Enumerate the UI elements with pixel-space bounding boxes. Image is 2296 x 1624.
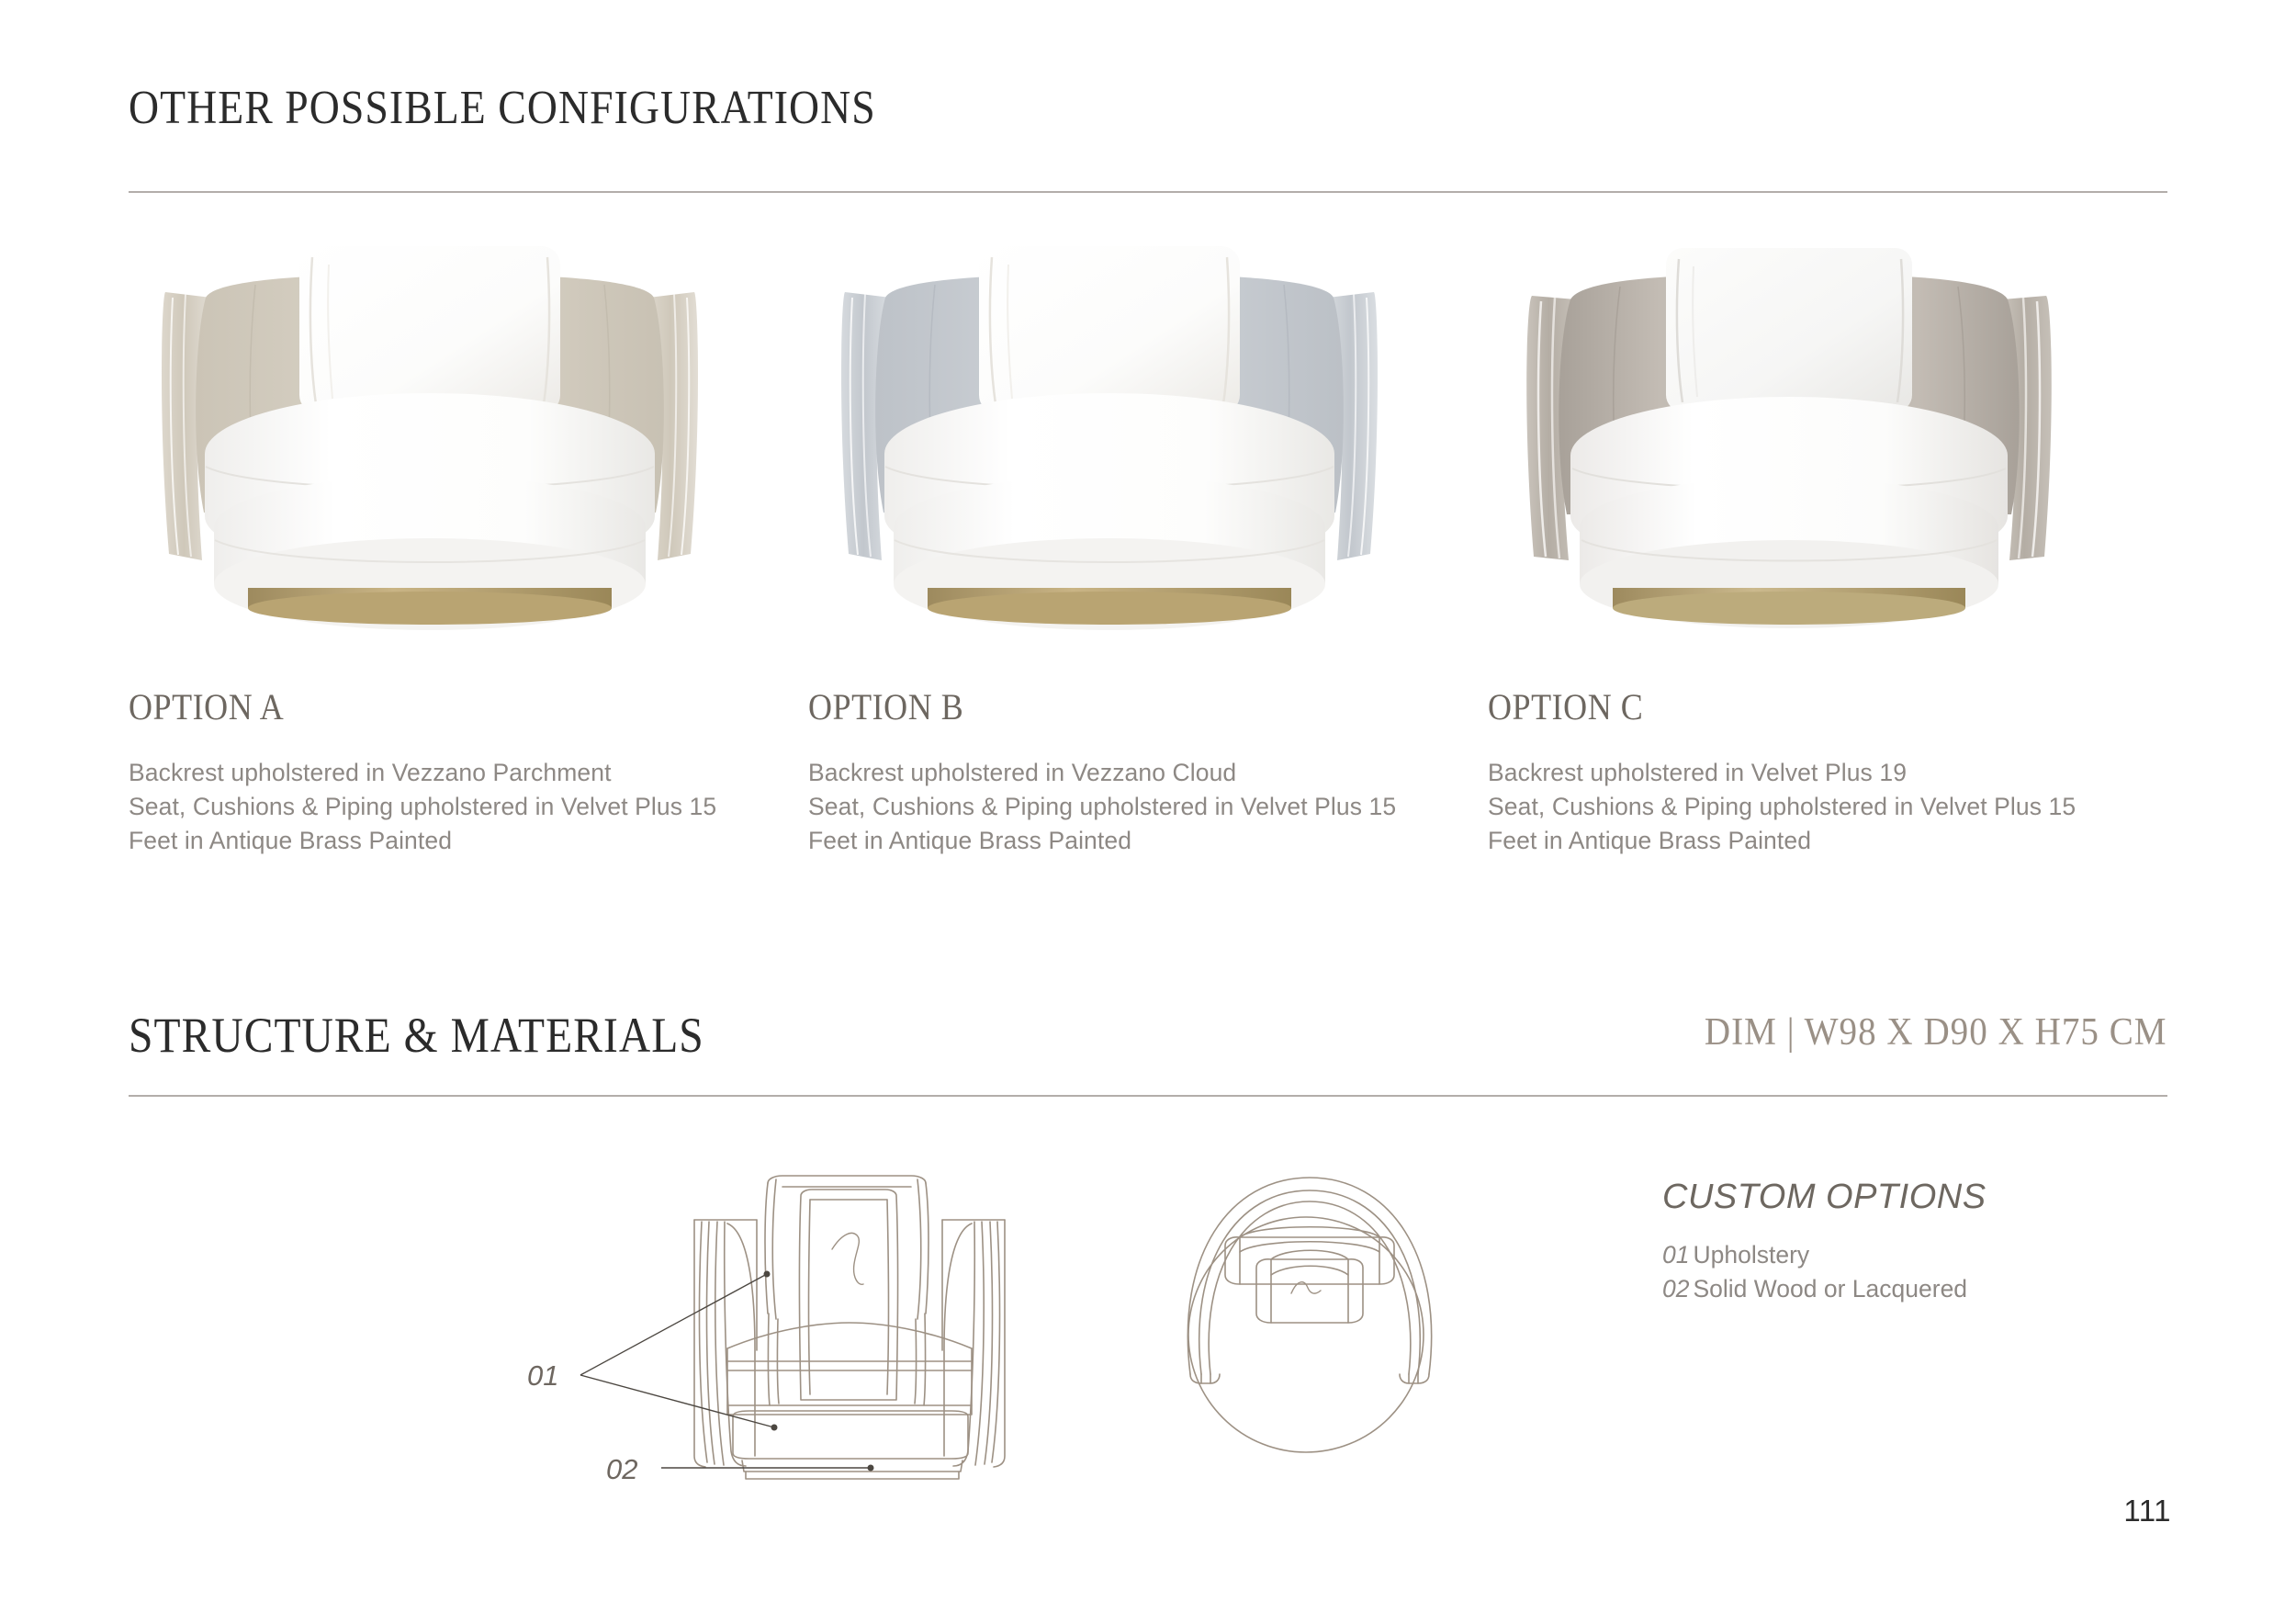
option-heading-c: OPTION C xyxy=(1488,685,1643,728)
dimensions-label: DIM | W98 X D90 X H75 CM xyxy=(1705,1010,2167,1054)
custom-options-title: CUSTOM OPTIONS xyxy=(1662,1178,1986,1217)
option-desc-line: Backrest upholstered in Vezzano Parchmen… xyxy=(129,756,716,790)
option-column-c: OPTION C Backrest upholstered in Velvet … xyxy=(1488,237,2167,806)
option-desc-line: Backrest upholstered in Vezzano Cloud xyxy=(808,756,1396,790)
option-column-b: OPTION B Backrest upholstered in Vezzano… xyxy=(808,237,1488,806)
divider-top xyxy=(129,191,2167,193)
option-desc-line: Feet in Antique Brass Painted xyxy=(1488,824,2076,858)
option-description-c: Backrest upholstered in Velvet Plus 19 S… xyxy=(1488,756,2076,858)
callout-dot-02 xyxy=(868,1465,874,1472)
callout-dot-01-a xyxy=(764,1271,771,1278)
callout-label-01: 01 xyxy=(527,1359,558,1392)
option-desc-line: Backrest upholstered in Velvet Plus 19 xyxy=(1488,756,2076,790)
custom-option-item: 02Solid Wood or Lacquered xyxy=(1662,1272,1967,1306)
custom-options-list: 01Upholstery 02Solid Wood or Lacquered xyxy=(1662,1238,1967,1306)
option-heading-b: OPTION B xyxy=(808,685,963,728)
option-desc-line: Seat, Cushions & Piping upholstered in V… xyxy=(1488,790,2076,824)
option-desc-line: Seat, Cushions & Piping upholstered in V… xyxy=(808,790,1396,824)
chair-image-b xyxy=(825,237,1394,632)
custom-option-label: Solid Wood or Lacquered xyxy=(1693,1275,1967,1303)
front-elevation-drawing: 01 02 xyxy=(514,1139,1084,1511)
callout-dot-01-b xyxy=(771,1425,778,1431)
options-row: OPTION A Backrest upholstered in Vezzano… xyxy=(129,237,2167,806)
chair-photo-a xyxy=(145,237,715,632)
section-title: STRUCTURE & MATERIALS xyxy=(129,1007,704,1064)
option-description-a: Backrest upholstered in Vezzano Parchmen… xyxy=(129,756,716,858)
option-heading-a: OPTION A xyxy=(129,685,284,728)
page-number: 111 xyxy=(2123,1494,2171,1528)
page-title: OTHER POSSIBLE CONFIGURATIONS xyxy=(129,81,876,135)
custom-option-number: 01 xyxy=(1662,1241,1689,1269)
custom-option-number: 02 xyxy=(1662,1275,1689,1303)
option-desc-line: Feet in Antique Brass Painted xyxy=(808,824,1396,858)
option-desc-line: Seat, Cushions & Piping upholstered in V… xyxy=(129,790,716,824)
chair-photo-b xyxy=(825,237,1394,632)
chair-image-c xyxy=(1504,237,2074,632)
chair-photo-c xyxy=(1504,237,2074,632)
divider-middle xyxy=(129,1095,2167,1097)
option-desc-line: Feet in Antique Brass Painted xyxy=(129,824,716,858)
option-description-b: Backrest upholstered in Vezzano Cloud Se… xyxy=(808,756,1396,858)
custom-option-label: Upholstery xyxy=(1693,1241,1809,1269)
custom-option-item: 01Upholstery xyxy=(1662,1238,1967,1272)
option-column-a: OPTION A Backrest upholstered in Vezzano… xyxy=(129,237,808,806)
callout-label-02: 02 xyxy=(606,1453,637,1485)
chair-image-a xyxy=(145,237,715,632)
plan-view-drawing xyxy=(1111,1146,1497,1482)
